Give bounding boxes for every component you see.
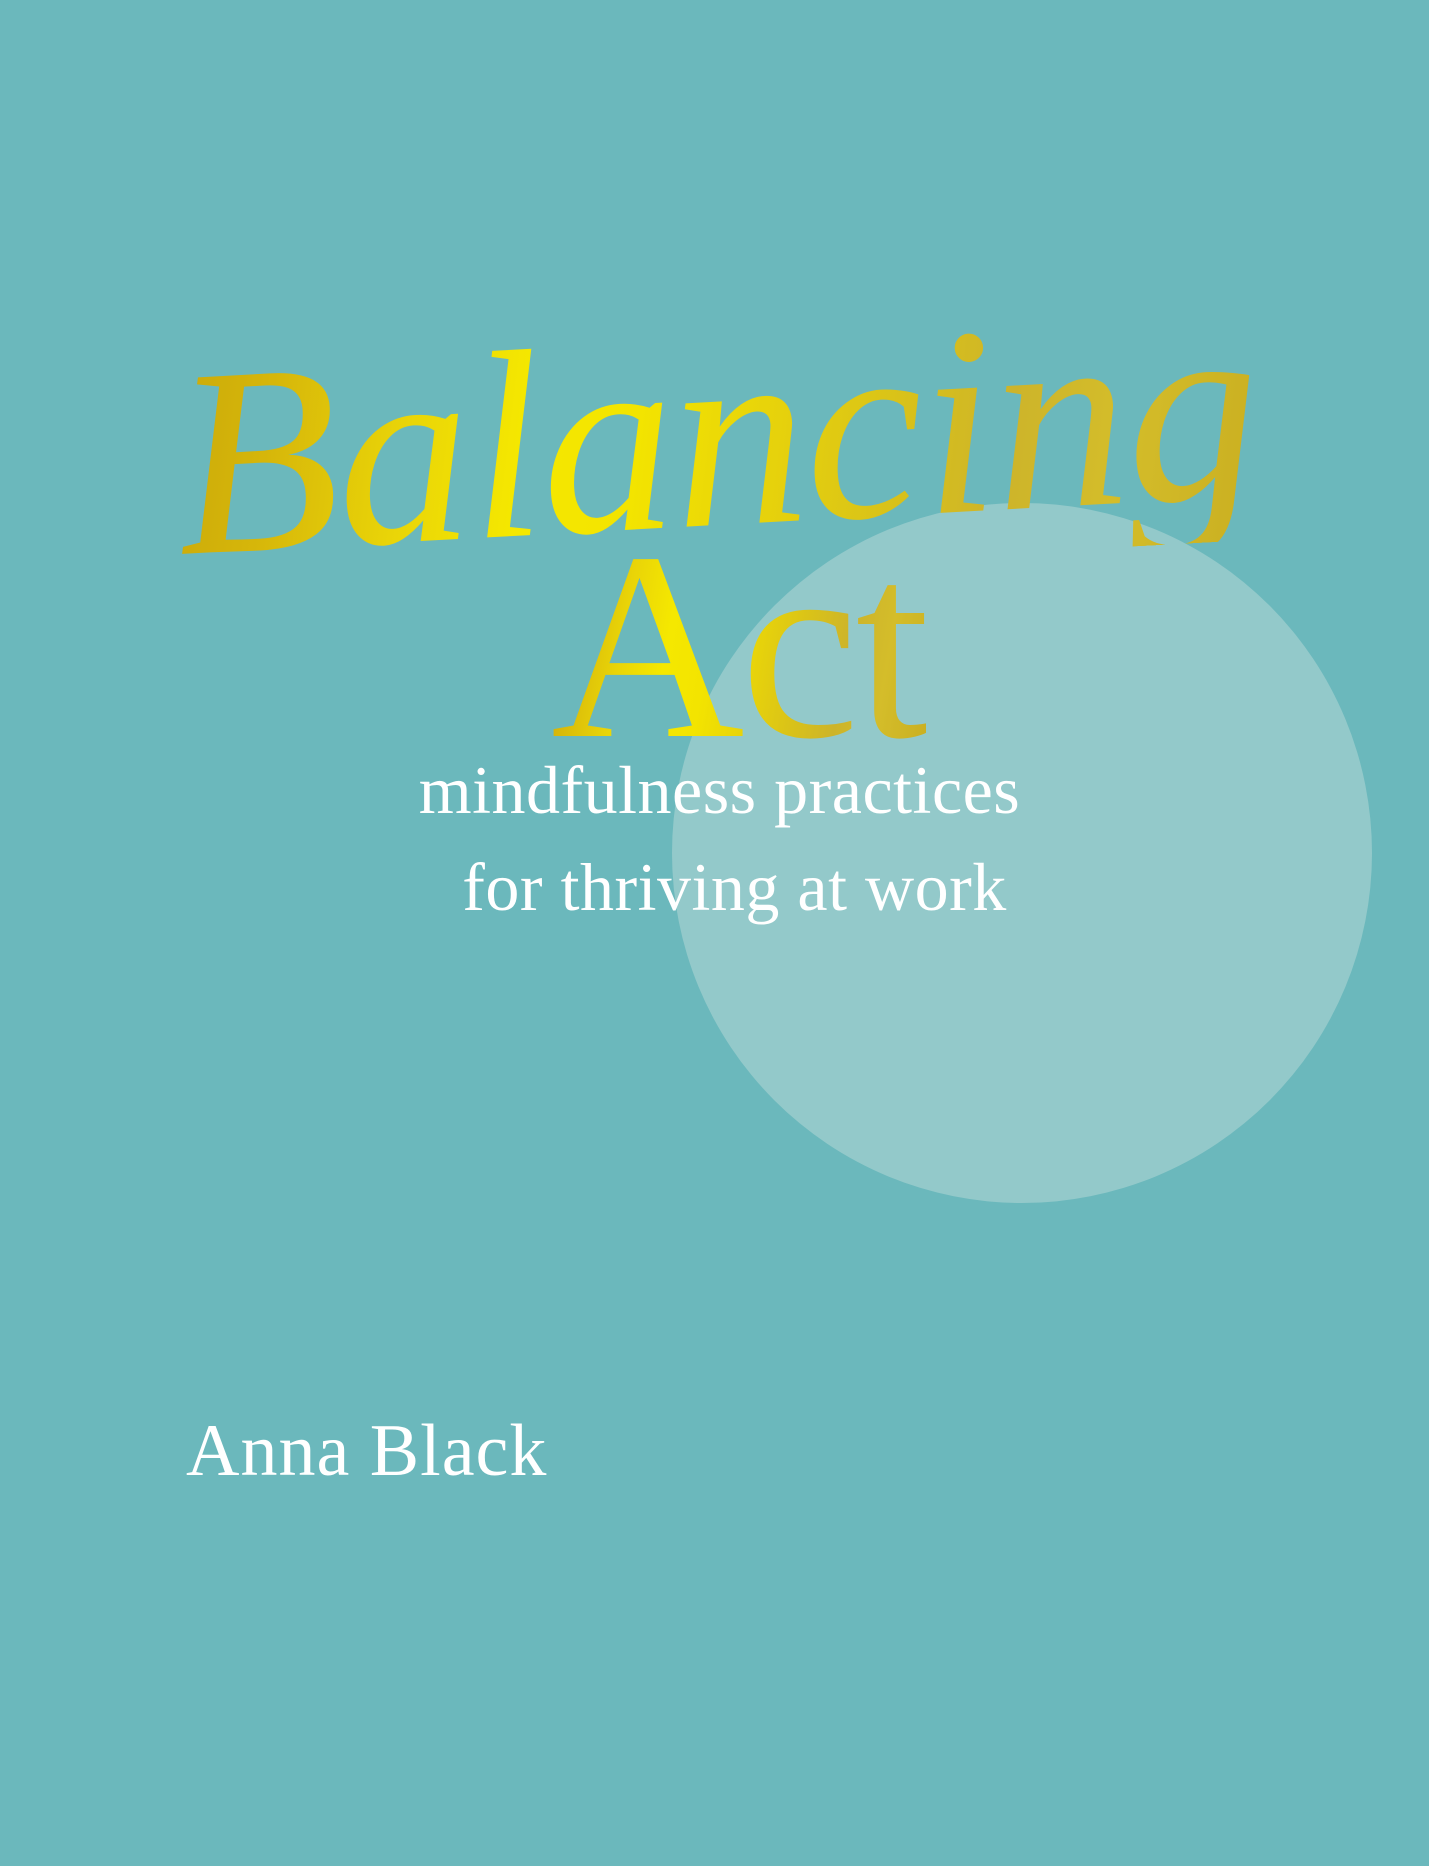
author-name: Anna Black: [186, 1414, 547, 1488]
book-cover: Balancing Act mindfulness practices for …: [0, 0, 1429, 1866]
subtitle-line-2: for thriving at work: [0, 839, 1429, 936]
title-line-balancing: Balancing: [168, 272, 1264, 598]
title-line-act: Act: [551, 512, 926, 780]
subtitle-line-1: mindfulness practices: [0, 742, 1429, 839]
decorative-circle: [672, 503, 1372, 1203]
title-block: Balancing Act: [0, 0, 1429, 760]
subtitle: mindfulness practices for thriving at wo…: [0, 742, 1429, 935]
